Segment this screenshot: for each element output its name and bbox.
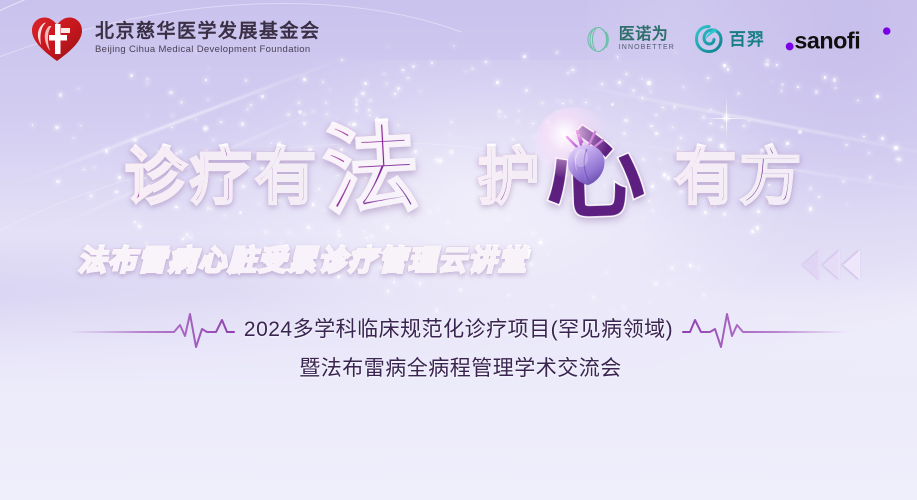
sparkle-dot [508,294,510,296]
sparkle-dot [570,273,571,274]
sparkle-dot [498,110,501,113]
sparkle-dot [394,93,396,95]
sparkle-star [610,102,615,107]
innobetter-sphere-icon [586,26,613,53]
sparkle-dot [180,101,183,104]
partner-logo-baiyi: 百羿 [695,25,765,53]
sparkle-dot [366,237,367,238]
sparkle-dot [78,88,79,89]
sparkle-dot [361,92,365,96]
sparkle-dot [632,89,634,91]
sparkle-dot [393,281,395,283]
sparkle-dot [182,238,184,240]
chevron-left-icon [803,250,820,280]
sparkle-dot [250,104,252,106]
sparkle-dot [551,305,553,307]
sparkle-dot [833,78,836,81]
sparkle-dot [325,102,327,104]
sparkle-dot [369,99,372,102]
sparkle-dot [671,267,673,269]
sparkle-star [354,102,359,107]
sparkle-dot [207,99,209,101]
sparkle-dot [419,282,422,285]
sparkle-dot [562,103,564,105]
sparkle-dot [313,111,314,112]
sparkle-dot [496,81,499,84]
sparkle-dot [387,290,390,293]
sparkle-dot [459,288,462,291]
sparkle-dot [781,90,783,92]
banner-subtitle: 法布雷病心脏受累诊疗管理云讲堂 [78,246,528,277]
title-heart-character-group: 心 [545,121,663,233]
sparkle-dot [737,92,740,95]
sparkle-dot [504,116,505,117]
sparkle-dot [169,91,172,94]
innobetter-name-cn: 医诺为 [619,27,669,43]
sparkle-dot [397,87,400,90]
sparkle-dot [655,114,657,116]
sparkle-dot [420,90,422,92]
title-text-youfang: 有方 [675,146,805,208]
heartbeat-line-left-icon [66,310,236,350]
event-line-one-row: 2024多学科临床规范化诊疗项目(罕见病领域) [66,310,851,350]
sparkle-dot [287,113,290,116]
partner-logos: 医诺为 INNOBETTER 百羿 [586,25,895,53]
sparkle-dot [147,83,148,84]
sparkle-dot [601,83,603,85]
heart-cross-logo-icon [30,15,84,63]
sparkle-dot [368,109,371,112]
sparkle-dot [876,95,879,98]
sparkle-dot [329,89,331,91]
sparkle-dot [649,302,651,304]
foundation-name-en: Beijing Cihua Medical Development Founda… [95,45,321,55]
sparkle-dot [189,236,193,240]
sparkle-dot [172,115,173,116]
innobetter-text-block: 医诺为 INNOBETTER [619,27,675,51]
sparkle-dot [548,254,550,256]
chevron-decoration [803,250,860,280]
sanofi-wordmark: sanofi [785,25,895,53]
sparkle-dot [703,294,706,297]
title-text-zhenliaoyou: 诊疗有 [124,146,319,208]
sparkle-dot [698,267,700,269]
title-calligraphy-fa: 法 [321,120,422,221]
sparkle-dot [606,272,607,273]
heartbeat-line-right-icon [681,310,851,350]
foundation-name-block: 北京慈华医学发展基金会 Beijing Cihua Medical Develo… [95,22,321,55]
sparkle-dot [518,110,520,112]
event-line-one: 2024多学科临床规范化诊疗项目(罕见病领域) [244,316,673,344]
sparkle-dot [592,296,595,299]
title-left-group: 诊疗有 法 [112,136,425,218]
sparkle-dot [772,81,773,82]
main-title-row: 诊疗有 法 护 心 [0,118,917,236]
sparkle-dot [570,101,571,102]
sparkle-dot [539,241,542,244]
sparkle-dot [642,97,644,99]
baiyi-swirl-icon [695,25,723,53]
foundation-name-cn: 北京慈华医学发展基金会 [95,22,321,43]
foundation-logo: 北京慈华医学发展基金会 Beijing Cihua Medical Develo… [30,15,321,63]
title-text-hu: 护 [477,146,542,208]
sparkle-dot [683,86,684,87]
title-right-group: 护 心 [425,121,804,233]
sparkle-dot [669,283,670,284]
sparkle-dot [557,100,558,101]
sparkle-dot [322,81,324,83]
banner-header: 北京慈华医学发展基金会 Beijing Cihua Medical Develo… [0,0,917,78]
sparkle-dot [710,109,711,110]
sparkle-dot [585,102,587,104]
partner-logo-innobetter: 医诺为 INNOBETTER [586,26,675,53]
sparkle-dot [530,263,532,265]
sparkle-dot [857,100,859,102]
sparkle-dot [525,89,528,92]
sparkle-dot [815,90,818,93]
sparkle-dot [662,107,664,109]
event-line-two: 暨法布雷病全病程管理学术交流会 [299,355,622,383]
sparkle-dot [386,83,388,85]
sparkle-dot [542,102,544,104]
partner-logo-sanofi: sanofi [785,25,895,53]
sparkle-dot [650,91,651,92]
sparkle-dot [245,79,248,82]
sparkle-dot [364,82,367,85]
sparkle-dot [59,93,62,96]
sparkle-dot [641,78,643,80]
sparkle-dot [261,95,264,98]
sparkle-dot [654,282,657,285]
conference-banner: 北京慈华医学发展基金会 Beijing Cihua Medical Develo… [0,0,917,500]
sparkle-dot [303,113,305,115]
chevron-left-icon [823,250,840,280]
sparkle-dot [797,86,799,88]
anatomical-heart-icon [551,123,625,197]
sparkle-dot [674,106,676,108]
chevron-left-icon [843,250,860,280]
sparkle-dot [647,81,651,85]
sparkle-star [297,109,303,115]
sparkle-dot [618,81,621,84]
sparkle-dot [147,115,148,116]
sparkle-dot [247,109,248,110]
sparkle-dot [598,108,599,109]
svg-text:sanofi: sanofi [794,27,860,53]
baiyi-name-cn: 百羿 [729,31,765,48]
sparkle-dot [781,83,784,86]
event-info-block: 2024多学科临床规范化诊疗项目(罕见病领域) 暨法布雷病全病程管理学术交流会 [0,310,917,383]
sparkle-dot [834,87,837,90]
sparkle-dot [205,79,207,81]
sparkle-dot [689,264,692,267]
sparkle-dot [281,243,282,244]
sparkle-dot [623,306,625,308]
sparkle-dot [303,78,306,81]
innobetter-name-en: INNOBETTER [619,44,675,51]
